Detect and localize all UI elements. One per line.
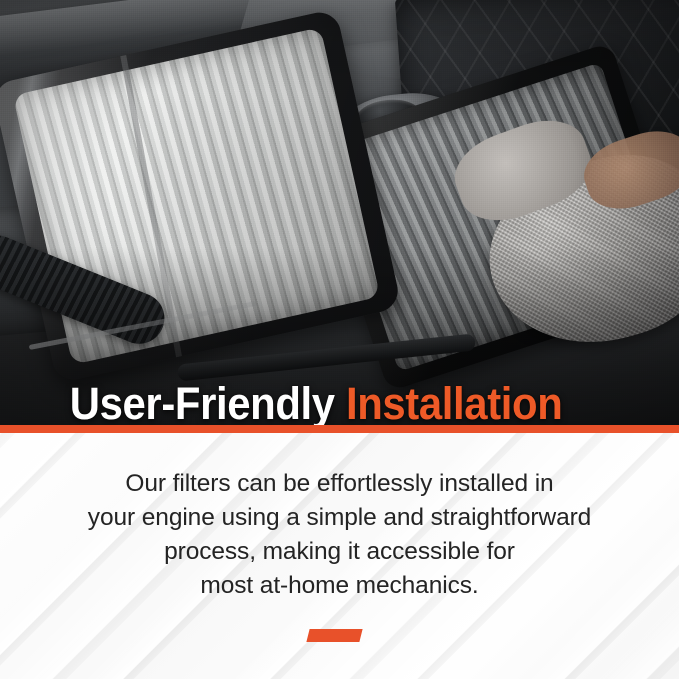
description-panel: Our filters can be effortlessly installe… — [0, 433, 679, 679]
page-title: User-Friendly Installation — [0, 380, 631, 425]
body-line-2: your engine using a simple and straightf… — [0, 501, 679, 535]
photo-vignette — [0, 0, 679, 425]
body-copy: Our filters can be effortlessly installe… — [0, 467, 679, 603]
product-feature-card: User-Friendly Installation Our filters c… — [0, 0, 679, 679]
body-line-4: most at-home mechanics. — [0, 569, 679, 603]
orange-accent-mark — [306, 629, 362, 642]
body-line-1: Our filters can be effortlessly installe… — [0, 467, 679, 501]
headline-orange-text: Installation — [346, 378, 562, 425]
orange-divider-bar — [0, 425, 679, 433]
hero-image: User-Friendly Installation — [0, 0, 679, 425]
headline-white-text: User-Friendly — [70, 378, 346, 425]
body-line-3: process, making it accessible for — [0, 535, 679, 569]
